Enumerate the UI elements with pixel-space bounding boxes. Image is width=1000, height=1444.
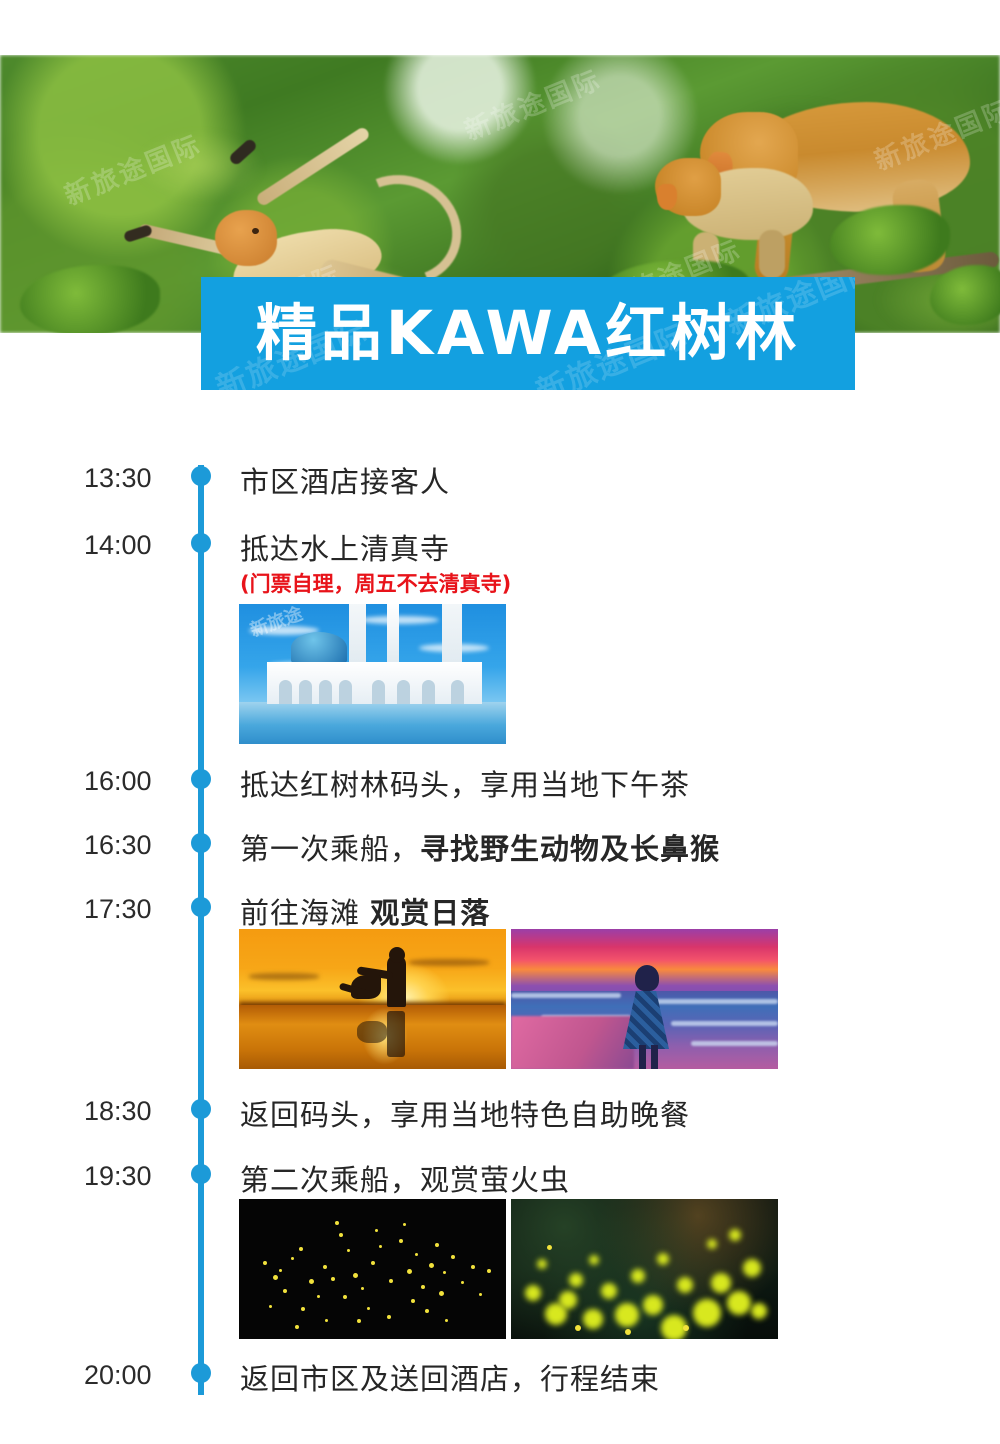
timeline-dot — [191, 1363, 211, 1383]
timeline-time: 13:30 — [84, 463, 194, 494]
timeline-spine — [198, 465, 204, 1395]
timeline-label: 前往海滩 观赏日落 — [240, 890, 960, 932]
timeline-time: 14:00 — [84, 530, 194, 561]
firefly-night-photo — [239, 1199, 506, 1339]
timeline-dot — [191, 897, 211, 917]
timeline-label: 抵达红树林码头，享用当地下午茶 — [240, 762, 960, 804]
timeline-time: 17:30 — [84, 894, 194, 925]
timeline-dot — [191, 1099, 211, 1119]
timeline-dot — [191, 1164, 211, 1184]
timeline-dot — [191, 769, 211, 789]
orange-sunset-photo — [239, 929, 506, 1069]
timeline-label: 返回市区及送回酒店，行程结束 — [240, 1356, 960, 1398]
timeline-time: 20:00 — [84, 1360, 194, 1391]
firefly-forest-photo — [511, 1199, 778, 1339]
timeline-label: 返回码头，享用当地特色自助晚餐 — [240, 1092, 960, 1134]
timeline-label-emphasis: 观赏日落 — [370, 896, 490, 930]
timeline-label: 第一次乘船，寻找野生动物及长鼻猴 — [240, 826, 960, 868]
timeline-time: 16:30 — [84, 830, 194, 861]
mosque-photo: 新旅途 — [239, 604, 506, 744]
timeline-note: (门票自理，周五不去清真寺) — [240, 568, 511, 598]
timeline-label: 抵达水上清真寺 — [240, 526, 960, 568]
page-title: 精品KAWA红树林 — [256, 303, 801, 364]
timeline-dot — [191, 533, 211, 553]
purple-sunset-photo — [511, 929, 778, 1069]
timeline-dot — [191, 833, 211, 853]
timeline-label-text: 前往海滩 — [240, 896, 370, 930]
timeline-time: 18:30 — [84, 1096, 194, 1127]
timeline-time: 19:30 — [84, 1161, 194, 1192]
timeline-label-text: 第一次乘船， — [240, 832, 420, 866]
timeline-dot — [191, 466, 211, 486]
timeline-time: 16:00 — [84, 766, 194, 797]
timeline-label: 第二次乘船，观赏萤火虫 — [240, 1157, 960, 1199]
timeline-label: 市区酒店接客人 — [240, 459, 960, 501]
timeline-label-emphasis: 寻找野生动物及长鼻猴 — [420, 832, 720, 866]
title-banner: 新旅途国际 新旅途国际 新旅途国际 精品KAWA红树林 — [201, 277, 855, 390]
